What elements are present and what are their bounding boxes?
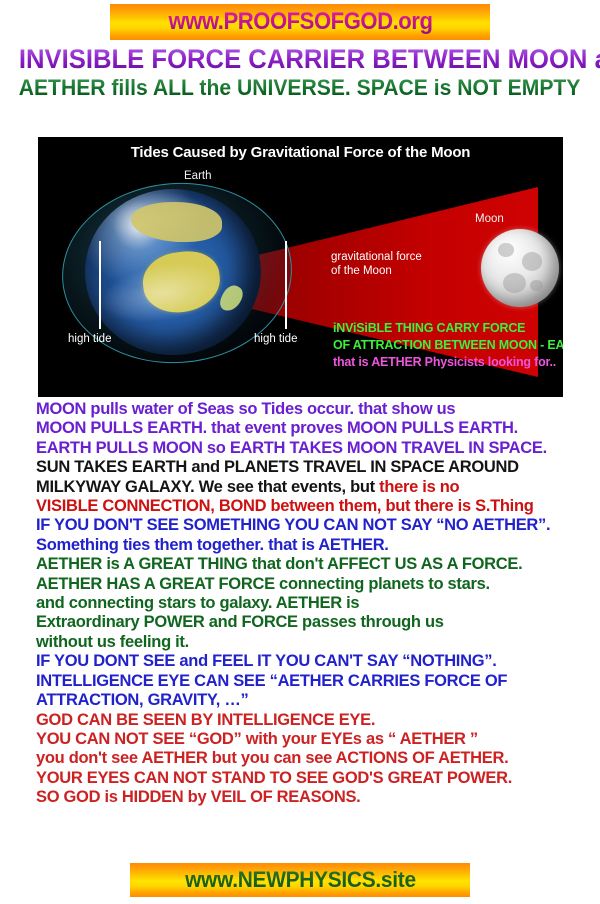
body-line: AETHER is A GREAT THING that don't AFFEC…: [36, 555, 600, 574]
body-line-text: EARTH PULLS MOON so EARTH TAKES MOON TRA…: [36, 439, 547, 457]
body-line-text: without us feeling it.: [36, 633, 189, 651]
body-line-text: IF YOU DON'T SEE SOMETHING YOU CAN NOT S…: [36, 516, 550, 534]
body-line-text: AETHER is A GREAT THING that don't AFFEC…: [36, 555, 522, 573]
body-line: YOUR EYES CAN NOT STAND TO SEE GOD'S GRE…: [36, 769, 600, 788]
tide-marker-line-right: [285, 241, 287, 329]
body-line-text: Something ties them together. that is AE…: [36, 536, 389, 554]
body-line-text: INTELLIGENCE EYE CAN SEE “AETHER CARRIES…: [36, 672, 507, 690]
body-line-text: ATTRACTION, GRAVITY, …”: [36, 691, 248, 709]
body-line: VISIBLE CONNECTION, BOND between them, b…: [36, 497, 600, 516]
body-line: IF YOU DON'T SEE SOMETHING YOU CAN NOT S…: [36, 516, 600, 535]
body-line-text: Extraordinary POWER and FORCE passes thr…: [36, 613, 444, 631]
body-line-text: MOON PULLS EARTH. that event proves MOON…: [36, 419, 518, 437]
body-line-text: SO GOD is HIDDEN by VEIL OF REASONS.: [36, 788, 360, 806]
footer-banner-url[interactable]: www.NEWPHYSICS.site: [185, 867, 416, 893]
top-banner: www.PROOFSOFGOD.org: [110, 4, 490, 40]
body-line-text: you don't see AETHER but you can see ACT…: [36, 749, 508, 767]
headline-block: INVISIBLE FORCE CARRIER BETWEEN MOON and…: [0, 44, 600, 74]
page-subtitle: AETHER fills ALL the UNIVERSE. SPACE is …: [19, 75, 581, 100]
body-line: SUN TAKES EARTH and PLANETS TRAVEL IN SP…: [36, 458, 600, 477]
moon-crater-icon: [522, 252, 542, 271]
body-line-text: YOUR EYES CAN NOT STAND TO SEE GOD'S GRE…: [36, 769, 512, 787]
body-line: INTELLIGENCE EYE CAN SEE “AETHER CARRIES…: [36, 672, 600, 691]
earth-label: Earth: [184, 170, 212, 182]
aether-overlay-text: iNViSiBLE THING CARRY FORCE OF ATTRACTIO…: [333, 320, 563, 371]
body-line: you don't see AETHER but you can see ACT…: [36, 749, 600, 768]
body-line-text: IF YOU DONT SEE and FEEL IT YOU CAN'T SA…: [36, 652, 496, 670]
overlay-line-1: iNViSiBLE THING CARRY FORCE: [333, 321, 525, 335]
body-line: AETHER HAS A GREAT FORCE connecting plan…: [36, 575, 600, 594]
body-line-text: MILKYWAY GALAXY. We see that events, but: [36, 478, 379, 496]
body-line-text: SUN TAKES EARTH and PLANETS TRAVEL IN SP…: [36, 458, 519, 476]
body-line: GOD CAN BE SEEN BY INTELLIGENCE EYE.: [36, 711, 600, 730]
body-line: Something ties them together. that is AE…: [36, 536, 600, 555]
body-line-text: AETHER HAS A GREAT FORCE connecting plan…: [36, 575, 490, 593]
body-line-highlight: there is no: [379, 478, 459, 496]
tide-marker-line-left: [99, 241, 101, 329]
body-line: MOON pulls water of Seas so Tides occur.…: [36, 400, 600, 419]
body-line-text: MOON pulls water of Seas so Tides occur.…: [36, 400, 455, 418]
top-banner-url[interactable]: www.PROOFSOFGOD.org: [168, 8, 432, 36]
overlay-line-2: OF ATTRACTION BETWEEN MOON - EARTH: [333, 338, 563, 352]
tides-diagram: Tides Caused by Gravitational Force of t…: [38, 137, 563, 397]
body-line: MILKYWAY GALAXY. We see that events, but…: [36, 478, 600, 497]
gravitational-force-label-line2: of the Moon: [331, 265, 392, 277]
overlay-line-3: that is AETHER Physicists looking for..: [333, 355, 556, 369]
moon-label: Moon: [475, 213, 504, 225]
earth-globe-icon: [85, 189, 261, 355]
cloud-icon: [95, 255, 230, 333]
figure-title: Tides Caused by Gravitational Force of t…: [38, 144, 563, 161]
article-body: MOON pulls water of Seas so Tides occur.…: [36, 400, 600, 808]
body-line-text: VISIBLE CONNECTION, BOND between them, b…: [36, 497, 534, 515]
body-line-text: YOU CAN NOT SEE “GOD” with your EYEs as …: [36, 730, 478, 748]
body-line: SO GOD is HIDDEN by VEIL OF REASONS.: [36, 788, 600, 807]
body-line: EARTH PULLS MOON so EARTH TAKES MOON TRA…: [36, 439, 600, 458]
footer-banner: www.NEWPHYSICS.site: [130, 863, 470, 897]
gravitational-force-label: gravitational force of the Moon: [331, 250, 422, 278]
gravitational-force-label-line1: gravitational force: [331, 251, 422, 263]
body-line: ATTRACTION, GRAVITY, …”: [36, 691, 600, 710]
high-tide-label-left: high tide: [68, 333, 111, 345]
moon-crater-icon: [530, 280, 542, 291]
body-line: without us feeling it.: [36, 633, 600, 652]
body-line: IF YOU DONT SEE and FEEL IT YOU CAN'T SA…: [36, 652, 600, 671]
moon-crater-icon: [503, 273, 526, 293]
subheadline-block: AETHER fills ALL the UNIVERSE. SPACE is …: [0, 75, 600, 100]
body-line: MOON PULLS EARTH. that event proves MOON…: [36, 419, 600, 438]
body-line: Extraordinary POWER and FORCE passes thr…: [36, 613, 600, 632]
high-tide-label-right: high tide: [254, 333, 297, 345]
moon-crater-icon: [498, 243, 514, 257]
body-line-text: GOD CAN BE SEEN BY INTELLIGENCE EYE.: [36, 711, 375, 729]
moon-icon: [481, 229, 559, 307]
body-line: and connecting stars to galaxy. AETHER i…: [36, 594, 600, 613]
body-line: YOU CAN NOT SEE “GOD” with your EYEs as …: [36, 730, 600, 749]
page-title: INVISIBLE FORCE CARRIER BETWEEN MOON and…: [19, 44, 600, 74]
body-line-text: and connecting stars to galaxy. AETHER i…: [36, 594, 359, 612]
